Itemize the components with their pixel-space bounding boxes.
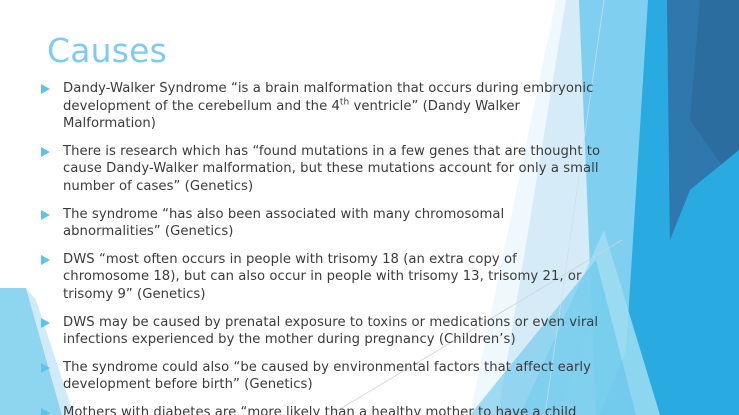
list-item: There is research which has “found mutat… [41,143,606,196]
bullet-definition: Dandy-Walker Syndrome “is a brain malfor… [63,80,606,133]
bullet-list: Dandy-Walker Syndrome “is a brain malfor… [41,80,606,415]
list-item: The syndrome could also “be caused by en… [41,359,606,394]
triangle-right-icon [41,80,63,94]
triangle-right-icon [41,314,63,328]
triangle-right-icon [41,206,63,220]
bullet-gene-mutations: There is research which has “found mutat… [63,143,606,196]
bullet-environmental-factors: The syndrome could also “be caused by en… [63,359,606,394]
bullet-prenatal-exposure: DWS may be caused by prenatal exposure t… [63,314,606,349]
list-item: DWS may be caused by prenatal exposure t… [41,314,606,349]
bullet-chromosomal-abnormalities: The syndrome “has also been associated w… [63,206,606,241]
bullet-maternal-diabetes: Mothers with diabetes are “more likely t… [63,404,606,415]
superscript-ordinal: th [340,97,349,107]
triangle-right-icon [41,143,63,157]
list-item: Dandy-Walker Syndrome “is a brain malfor… [41,80,606,133]
bullet-trisomy: DWS “most often occurs in people with tr… [63,251,606,304]
triangle-right-icon [41,404,63,415]
triangle-right-icon [41,251,63,265]
page-title: Causes [47,33,167,69]
list-item: Mothers with diabetes are “more likely t… [41,404,606,415]
list-item: The syndrome “has also been associated w… [41,206,606,241]
list-item: DWS “most often occurs in people with tr… [41,251,606,304]
presentation-slide: Causes Dandy-Walker Syndrome “is a brain… [0,0,739,415]
triangle-right-icon [41,359,63,373]
